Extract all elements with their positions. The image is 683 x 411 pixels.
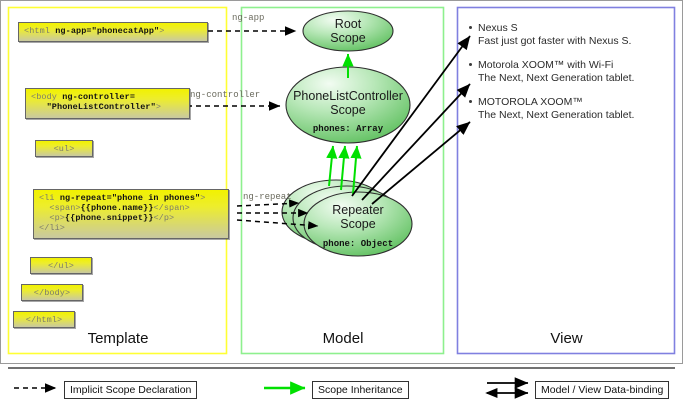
list-item[interactable]: MOTOROLA XOOM™ The Next, Next Generation… bbox=[478, 96, 674, 122]
root-scope-ellipse bbox=[303, 11, 393, 51]
code-block-ul-open: <ul> bbox=[35, 140, 93, 157]
repeater-scope-ellipse-front bbox=[304, 192, 412, 256]
bullet-icon bbox=[469, 26, 472, 29]
code-block-html-tag: <html ng-app="phonecatApp"> bbox=[18, 22, 208, 42]
list-item-snippet: Fast just got faster with Nexus S. bbox=[478, 35, 674, 48]
template-panel-frame bbox=[9, 8, 227, 354]
legend-databinding-label: Model / View Data-binding bbox=[535, 381, 669, 399]
panel-label-template: Template bbox=[9, 330, 227, 347]
code-block-body-close: </body> bbox=[21, 284, 83, 301]
bullet-icon bbox=[469, 63, 472, 66]
code-block-li-repeat: <li ng-repeat="phone in phones"> <span>{… bbox=[33, 189, 229, 239]
panel-label-model: Model bbox=[242, 330, 444, 347]
diagram-canvas: <html ng-app="phonecatApp"> <body ng-con… bbox=[0, 0, 683, 411]
code-block-ul-close: </ul> bbox=[30, 257, 92, 274]
edge-label-ng-app: ng-app bbox=[232, 13, 264, 23]
legend-inheritance-label: Scope Inheritance bbox=[312, 381, 409, 399]
legend: Implicit Scope Declaration Scope Inherit… bbox=[0, 370, 683, 411]
list-item-title: Motorola XOOM™ with Wi-Fi bbox=[478, 59, 674, 72]
list-item-snippet: The Next, Next Generation tablet. bbox=[478, 109, 674, 122]
edge-label-ng-controller: ng-controller bbox=[190, 90, 260, 100]
controller-scope-ellipse bbox=[286, 67, 410, 143]
edge-label-ng-repeat: ng-repeat bbox=[243, 192, 292, 202]
list-item[interactable]: Motorola XOOM™ with Wi-Fi The Next, Next… bbox=[478, 59, 674, 85]
bullet-icon bbox=[469, 100, 472, 103]
list-item-snippet: The Next, Next Generation tablet. bbox=[478, 72, 674, 85]
list-item[interactable]: Nexus S Fast just got faster with Nexus … bbox=[478, 22, 674, 48]
panel-label-view: View bbox=[458, 330, 675, 347]
code-block-html-close: </html> bbox=[13, 311, 75, 328]
list-item-title: Nexus S bbox=[478, 22, 674, 35]
list-item-title: MOTOROLA XOOM™ bbox=[478, 96, 674, 109]
view-phone-list: Nexus S Fast just got faster with Nexus … bbox=[478, 22, 674, 133]
legend-implicit-scope-label: Implicit Scope Declaration bbox=[64, 381, 197, 399]
code-block-body-tag: <body ng-controller= "PhoneListControlle… bbox=[25, 88, 190, 119]
